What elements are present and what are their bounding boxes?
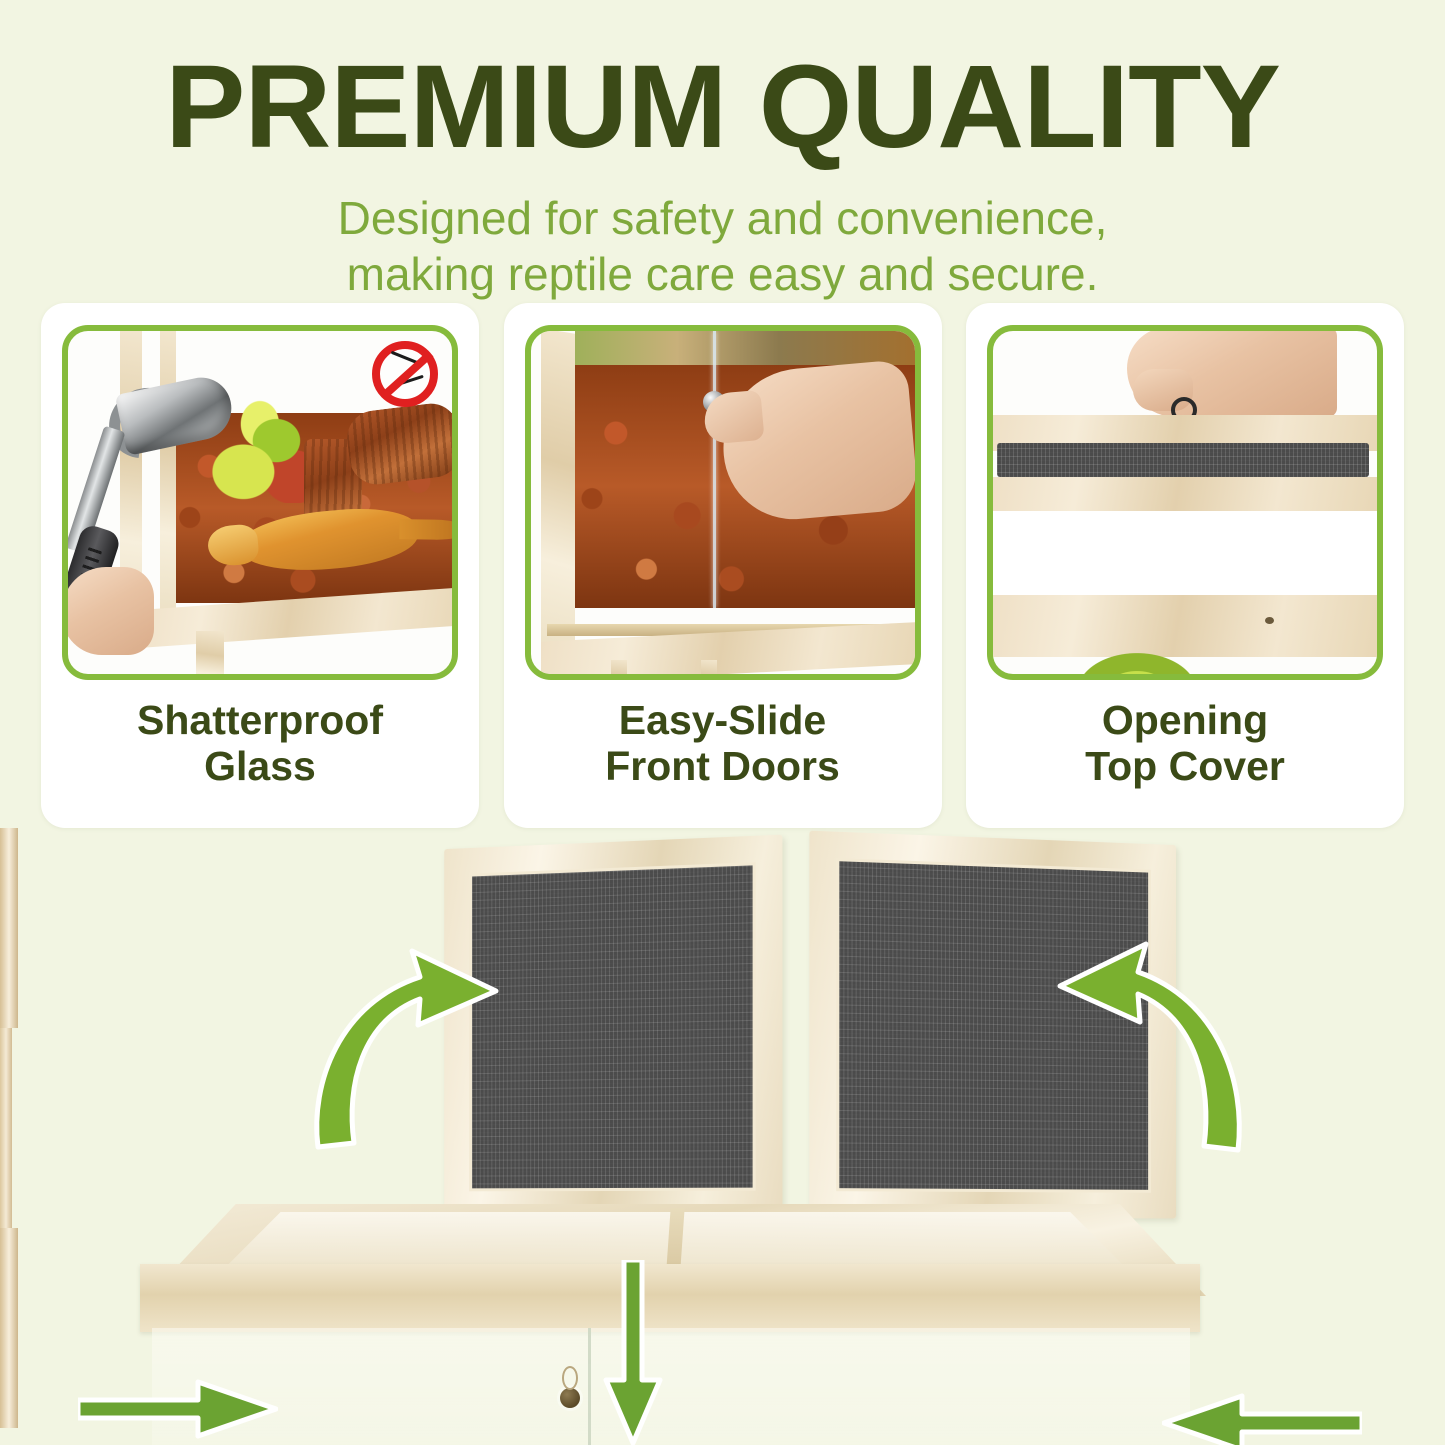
feature-card-row: Shatterproof Glass Eas xyxy=(41,303,1404,828)
curved-arrow-right-lid xyxy=(1046,926,1256,1156)
no-crack-icon xyxy=(372,341,438,407)
terrarium-glass-body xyxy=(152,1328,1190,1445)
terrarium-post-middle xyxy=(0,1028,12,1228)
easy-slide-front-doors-photo xyxy=(525,325,921,680)
sliding-glass-door-edge xyxy=(713,331,716,608)
curved-arrow-left-lid xyxy=(300,933,510,1153)
plant-decor xyxy=(1077,653,1197,680)
front-door-seam xyxy=(588,1328,591,1445)
terrarium-leg-right xyxy=(701,660,717,680)
feature-card-shatterproof-glass: Shatterproof Glass xyxy=(41,303,479,828)
feature-card-label: Opening Top Cover xyxy=(1085,698,1285,790)
hand xyxy=(62,567,154,655)
product-hero-image xyxy=(0,828,1445,1445)
feature-card-opening-top-cover: Opening Top Cover xyxy=(966,303,1404,828)
terrarium-corner-post-left xyxy=(0,828,18,1028)
infographic-page: PREMIUM QUALITY Designed for safety and … xyxy=(0,0,1445,1445)
straight-arrow-center-door xyxy=(598,1260,668,1445)
straight-arrow-right-panel xyxy=(1162,1392,1362,1445)
shatterproof-glass-photo xyxy=(62,325,458,680)
terrarium-bottom-rail xyxy=(993,595,1377,657)
hand-lifting-cover xyxy=(1127,327,1337,417)
page-title: PREMIUM QUALITY xyxy=(0,48,1445,166)
feature-card-easy-slide-front-doors: Easy-Slide Front Doors xyxy=(504,303,942,828)
feature-label-line-2: Top Cover xyxy=(1085,744,1285,790)
feature-card-label: Easy-Slide Front Doors xyxy=(605,698,840,790)
opening-top-cover-photo xyxy=(987,325,1383,680)
driftwood-branch-decor xyxy=(344,400,458,487)
terrarium-interior xyxy=(575,331,915,608)
feature-label-line-1: Easy-Slide xyxy=(605,698,840,744)
screw-detail xyxy=(1265,617,1274,624)
left-mesh-panel xyxy=(469,862,756,1191)
crack-line-2 xyxy=(396,375,424,387)
feature-label-line-2: Front Doors xyxy=(605,744,840,790)
page-subtitle: Designed for safety and convenience, mak… xyxy=(0,190,1445,302)
terrarium-frame-post-inner xyxy=(160,331,176,619)
terrarium-side-frame xyxy=(541,328,575,663)
feature-label-line-1: Opening xyxy=(1085,698,1285,744)
terrarium-top-rail xyxy=(993,477,1377,511)
feature-card-label: Shatterproof Glass xyxy=(137,698,383,790)
terrarium-front-band xyxy=(140,1264,1200,1332)
terrarium-corner-post-right xyxy=(0,1228,18,1428)
crack-line-1 xyxy=(391,351,424,367)
terrarium-leg-left xyxy=(611,660,627,680)
terrarium-glass-gap xyxy=(993,511,1377,595)
straight-arrow-left-panel xyxy=(78,1378,278,1440)
subtitle-line-2: making reptile care easy and secure. xyxy=(0,246,1445,302)
subtitle-line-1: Designed for safety and convenience, xyxy=(0,190,1445,246)
terrarium-leg xyxy=(196,631,224,680)
feature-label-line-2: Glass xyxy=(137,744,383,790)
front-door-knob xyxy=(560,1388,580,1408)
feature-label-line-1: Shatterproof xyxy=(137,698,383,744)
top-cover-mesh-panel xyxy=(997,443,1369,477)
